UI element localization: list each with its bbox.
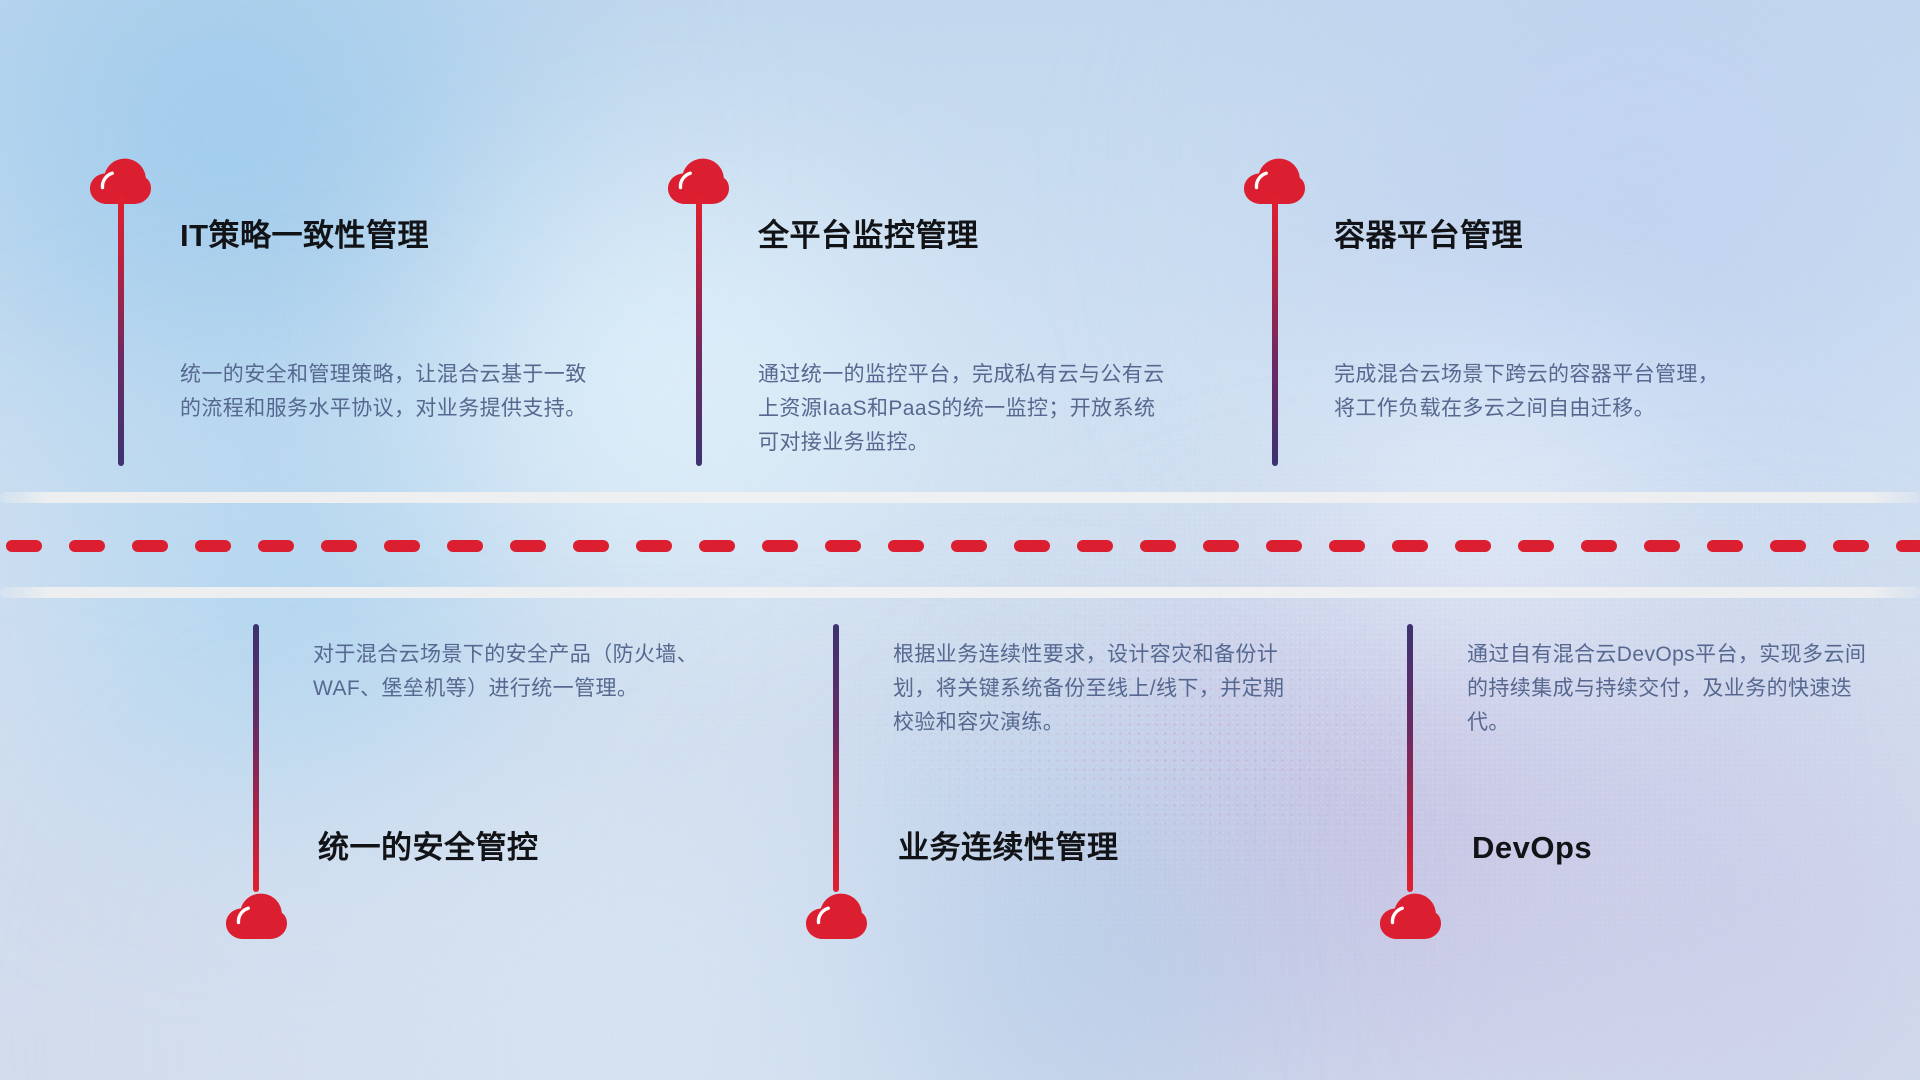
road-dash <box>1455 540 1491 552</box>
road-dash <box>636 540 672 552</box>
road-dash <box>888 540 924 552</box>
pin-description: 通过自有混合云DevOps平台，实现多云间的持续集成与持续交付，及业务的快速迭代… <box>1467 638 1867 740</box>
road-dash <box>1014 540 1050 552</box>
road-dash <box>1392 540 1428 552</box>
pin-description: 对于混合云场景下的安全产品（防火墙、WAF、堡垒机等）进行统一管理。 <box>313 638 723 706</box>
road-dash <box>573 540 609 552</box>
road-dash <box>321 540 357 552</box>
road-dash <box>195 540 231 552</box>
infographic-canvas: IT策略一致性管理 统一的安全和管理策略，让混合云基于一致的流程和服务水平协议，… <box>0 0 1920 1080</box>
road-dash <box>1329 540 1365 552</box>
road-dash <box>1581 540 1617 552</box>
road-dash <box>951 540 987 552</box>
road-dash <box>699 540 735 552</box>
road-dash <box>132 540 168 552</box>
road-dash <box>6 540 42 552</box>
cloud-pin-icon <box>225 893 287 941</box>
road-edge-top <box>0 492 1920 503</box>
pin-title: 统一的安全管控 <box>318 832 539 863</box>
pin-title: 全平台监控管理 <box>758 220 979 251</box>
pin-stem <box>833 624 839 892</box>
road-dash <box>69 540 105 552</box>
pin-stem <box>1272 196 1278 466</box>
pin-title: 业务连续性管理 <box>898 832 1119 863</box>
road-dash <box>1203 540 1239 552</box>
road-dash <box>1644 540 1680 552</box>
road-dash <box>384 540 420 552</box>
road-dash <box>1707 540 1743 552</box>
pin-description: 统一的安全和管理策略，让混合云基于一致的流程和服务水平协议，对业务提供支持。 <box>180 358 590 426</box>
pin-stem <box>1407 624 1413 892</box>
road-dash <box>1896 540 1920 552</box>
road-center-dashes <box>0 540 1920 552</box>
pin-stem <box>118 196 124 466</box>
road-dash <box>762 540 798 552</box>
pin-title: DevOps <box>1472 832 1592 863</box>
road-dash <box>825 540 861 552</box>
pin-stem <box>696 196 702 466</box>
cloud-pin-icon <box>1379 893 1441 941</box>
pin-description: 根据业务连续性要求，设计容灾和备份计划，将关键系统备份至线上/线下，并定期校验和… <box>893 638 1303 740</box>
cloud-pin-icon <box>805 893 867 941</box>
road-dash <box>1140 540 1176 552</box>
road-dash <box>1833 540 1869 552</box>
pin-title: IT策略一致性管理 <box>180 220 429 251</box>
pin-description: 通过统一的监控平台，完成私有云与公有云上资源IaaS和PaaS的统一监控；开放系… <box>758 358 1168 460</box>
road-dash <box>1266 540 1302 552</box>
road-dash <box>1518 540 1554 552</box>
pin-title: 容器平台管理 <box>1334 220 1523 251</box>
road-dash <box>258 540 294 552</box>
pin-stem <box>253 624 259 892</box>
road-edge-bottom <box>0 587 1920 598</box>
road-dash <box>1770 540 1806 552</box>
road-dash <box>447 540 483 552</box>
road-dash <box>1077 540 1113 552</box>
pin-description: 完成混合云场景下跨云的容器平台管理，将工作负载在多云之间自由迁移。 <box>1334 358 1734 426</box>
road-dash <box>510 540 546 552</box>
